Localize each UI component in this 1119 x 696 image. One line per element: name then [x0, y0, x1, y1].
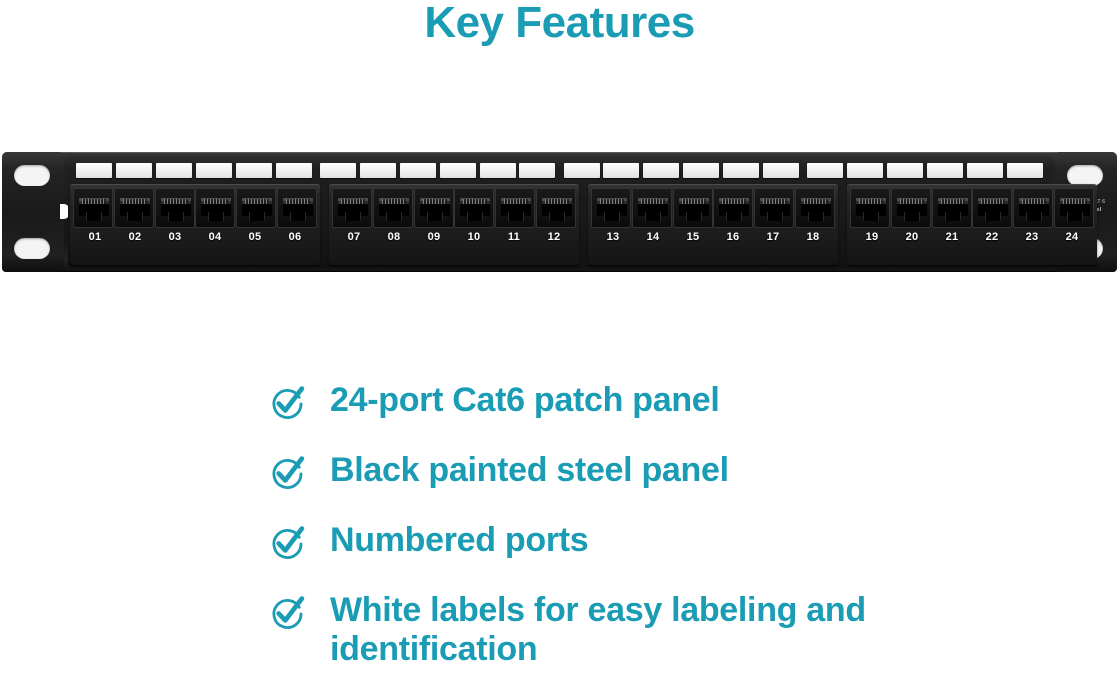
port-number-label: 07 — [334, 231, 374, 243]
rj45-port — [673, 188, 713, 228]
rj45-port — [632, 188, 672, 228]
rj45-contacts — [682, 199, 706, 204]
feature-item: White labels for easy labeling and ident… — [266, 590, 966, 670]
white-label-strip — [763, 163, 799, 178]
port-number-label: 11 — [494, 231, 534, 243]
white-label-strip — [1007, 163, 1043, 178]
rj45-port — [454, 188, 494, 228]
rj45-contacts — [123, 199, 147, 204]
rj45-contacts — [981, 199, 1005, 204]
port-number-label: 19 — [852, 231, 892, 243]
rj45-port — [332, 188, 372, 228]
port-number-label: 08 — [374, 231, 414, 243]
white-label-strip — [519, 163, 555, 178]
rj45-port — [536, 188, 576, 228]
rj45-port — [155, 188, 195, 228]
rj45-port — [414, 188, 454, 228]
rj45-contacts — [763, 199, 787, 204]
port-number-label: 21 — [932, 231, 972, 243]
port-number-label: 09 — [414, 231, 454, 243]
port-number-label: 24 — [1052, 231, 1092, 243]
feature-item: 24-port Cat6 patch panel — [266, 380, 966, 424]
port-number-label: 23 — [1012, 231, 1052, 243]
white-label-strip — [320, 163, 356, 178]
rj45-contacts — [204, 199, 228, 204]
white-label-strip — [440, 163, 476, 178]
rj45-contacts — [245, 199, 269, 204]
rj45-port — [932, 188, 972, 228]
white-label-strip — [480, 163, 516, 178]
white-label-strip — [643, 163, 679, 178]
label-strip-group — [560, 163, 804, 180]
label-strip-row — [72, 163, 1047, 180]
jack-row — [73, 188, 317, 228]
white-label-strip — [683, 163, 719, 178]
port-number-label: 04 — [195, 231, 235, 243]
white-label-strip — [603, 163, 639, 178]
rj45-contacts — [1063, 199, 1087, 204]
rj45-port — [277, 188, 317, 228]
feature-item: Numbered ports — [266, 520, 966, 564]
port-number-label: 05 — [235, 231, 275, 243]
port-number-label: 17 — [753, 231, 793, 243]
white-label-strip — [76, 163, 112, 178]
port-number-label: 06 — [275, 231, 315, 243]
feature-text: Black painted steel panel — [330, 450, 729, 490]
port-number-label: 22 — [972, 231, 1012, 243]
port-number-label: 02 — [115, 231, 155, 243]
mounting-hole — [1067, 165, 1103, 186]
feature-list: 24-port Cat6 patch panelBlack painted st… — [266, 380, 966, 696]
mounting-hole — [14, 238, 50, 259]
rj45-contacts — [1022, 199, 1046, 204]
rj45-contacts — [641, 199, 665, 204]
port-number-row: 131415161718 — [591, 231, 835, 243]
check-circle-icon — [266, 452, 308, 494]
white-label-strip — [276, 163, 312, 178]
rj45-port — [373, 188, 413, 228]
label-strip-group — [72, 163, 316, 180]
rj45-port — [1013, 188, 1053, 228]
check-circle-icon — [266, 522, 308, 564]
white-label-strip — [360, 163, 396, 178]
feature-text: Numbered ports — [330, 520, 588, 560]
rj45-contacts — [382, 199, 406, 204]
port-number-label: 03 — [155, 231, 195, 243]
rj45-contacts — [859, 199, 883, 204]
page-title: Key Features — [0, 0, 1119, 48]
rj45-contacts — [504, 199, 528, 204]
white-label-strip — [887, 163, 923, 178]
rj45-contacts — [722, 199, 746, 204]
white-label-strip — [400, 163, 436, 178]
port-number-label: 16 — [713, 231, 753, 243]
white-label-strip — [723, 163, 759, 178]
white-label-strip — [236, 163, 272, 178]
rj45-contacts — [82, 199, 106, 204]
rj45-port — [195, 188, 235, 228]
white-label-strip — [564, 163, 600, 178]
feature-text: White labels for easy labeling and ident… — [330, 590, 966, 670]
rj45-contacts — [341, 199, 365, 204]
rj45-port — [114, 188, 154, 228]
port-number-label: 12 — [534, 231, 574, 243]
rj45-contacts — [286, 199, 310, 204]
jack-module: 131415161718 — [588, 184, 838, 266]
rj45-port — [495, 188, 535, 228]
port-number-label: 01 — [75, 231, 115, 243]
feature-text: 24-port Cat6 patch panel — [330, 380, 720, 420]
white-label-strip — [927, 163, 963, 178]
white-label-strip — [847, 163, 883, 178]
rj45-port — [754, 188, 794, 228]
patch-panel-product-image: cULUS CAT 6 patch panel 0102030405060708… — [2, 148, 1117, 276]
rj45-port — [591, 188, 631, 228]
rj45-contacts — [463, 199, 487, 204]
jack-module: 070809101112 — [329, 184, 579, 266]
jack-module: 192021222324 — [847, 184, 1097, 266]
port-number-label: 10 — [454, 231, 494, 243]
white-label-strip — [116, 163, 152, 178]
rj45-contacts — [941, 199, 965, 204]
white-label-strip — [807, 163, 843, 178]
port-number-label: 14 — [633, 231, 673, 243]
white-label-strip — [967, 163, 1003, 178]
port-number-label: 13 — [593, 231, 633, 243]
jack-row — [591, 188, 835, 228]
white-label-strip — [156, 163, 192, 178]
jack-module: 010203040506 — [70, 184, 320, 266]
mounting-ear-left — [2, 152, 64, 272]
check-circle-icon — [266, 382, 308, 424]
rj45-port — [891, 188, 931, 228]
jack-row — [850, 188, 1094, 228]
rj45-port — [713, 188, 753, 228]
check-circle-icon — [266, 592, 308, 634]
port-number-label: 18 — [793, 231, 833, 243]
port-number-row: 010203040506 — [73, 231, 317, 243]
rj45-port — [850, 188, 890, 228]
rj45-contacts — [545, 199, 569, 204]
label-strip-group — [316, 163, 560, 180]
feature-item: Black painted steel panel — [266, 450, 966, 494]
mounting-hole — [14, 165, 50, 186]
jack-module-row: 0102030405060708091011121314151617181920… — [70, 184, 1049, 266]
port-number-label: 20 — [892, 231, 932, 243]
rj45-port — [795, 188, 835, 228]
label-strip-group — [803, 163, 1047, 180]
port-number-label: 15 — [673, 231, 713, 243]
white-label-strip — [196, 163, 232, 178]
rj45-contacts — [600, 199, 624, 204]
rj45-port — [972, 188, 1012, 228]
port-number-row: 070809101112 — [332, 231, 576, 243]
rj45-port — [1054, 188, 1094, 228]
rj45-contacts — [423, 199, 447, 204]
rj45-contacts — [900, 199, 924, 204]
rj45-contacts — [804, 199, 828, 204]
port-number-row: 192021222324 — [850, 231, 1094, 243]
rj45-port — [73, 188, 113, 228]
jack-row — [332, 188, 576, 228]
rj45-port — [236, 188, 276, 228]
rj45-contacts — [164, 199, 188, 204]
patch-panel-face: 0102030405060708091011121314151617181920… — [68, 156, 1051, 268]
